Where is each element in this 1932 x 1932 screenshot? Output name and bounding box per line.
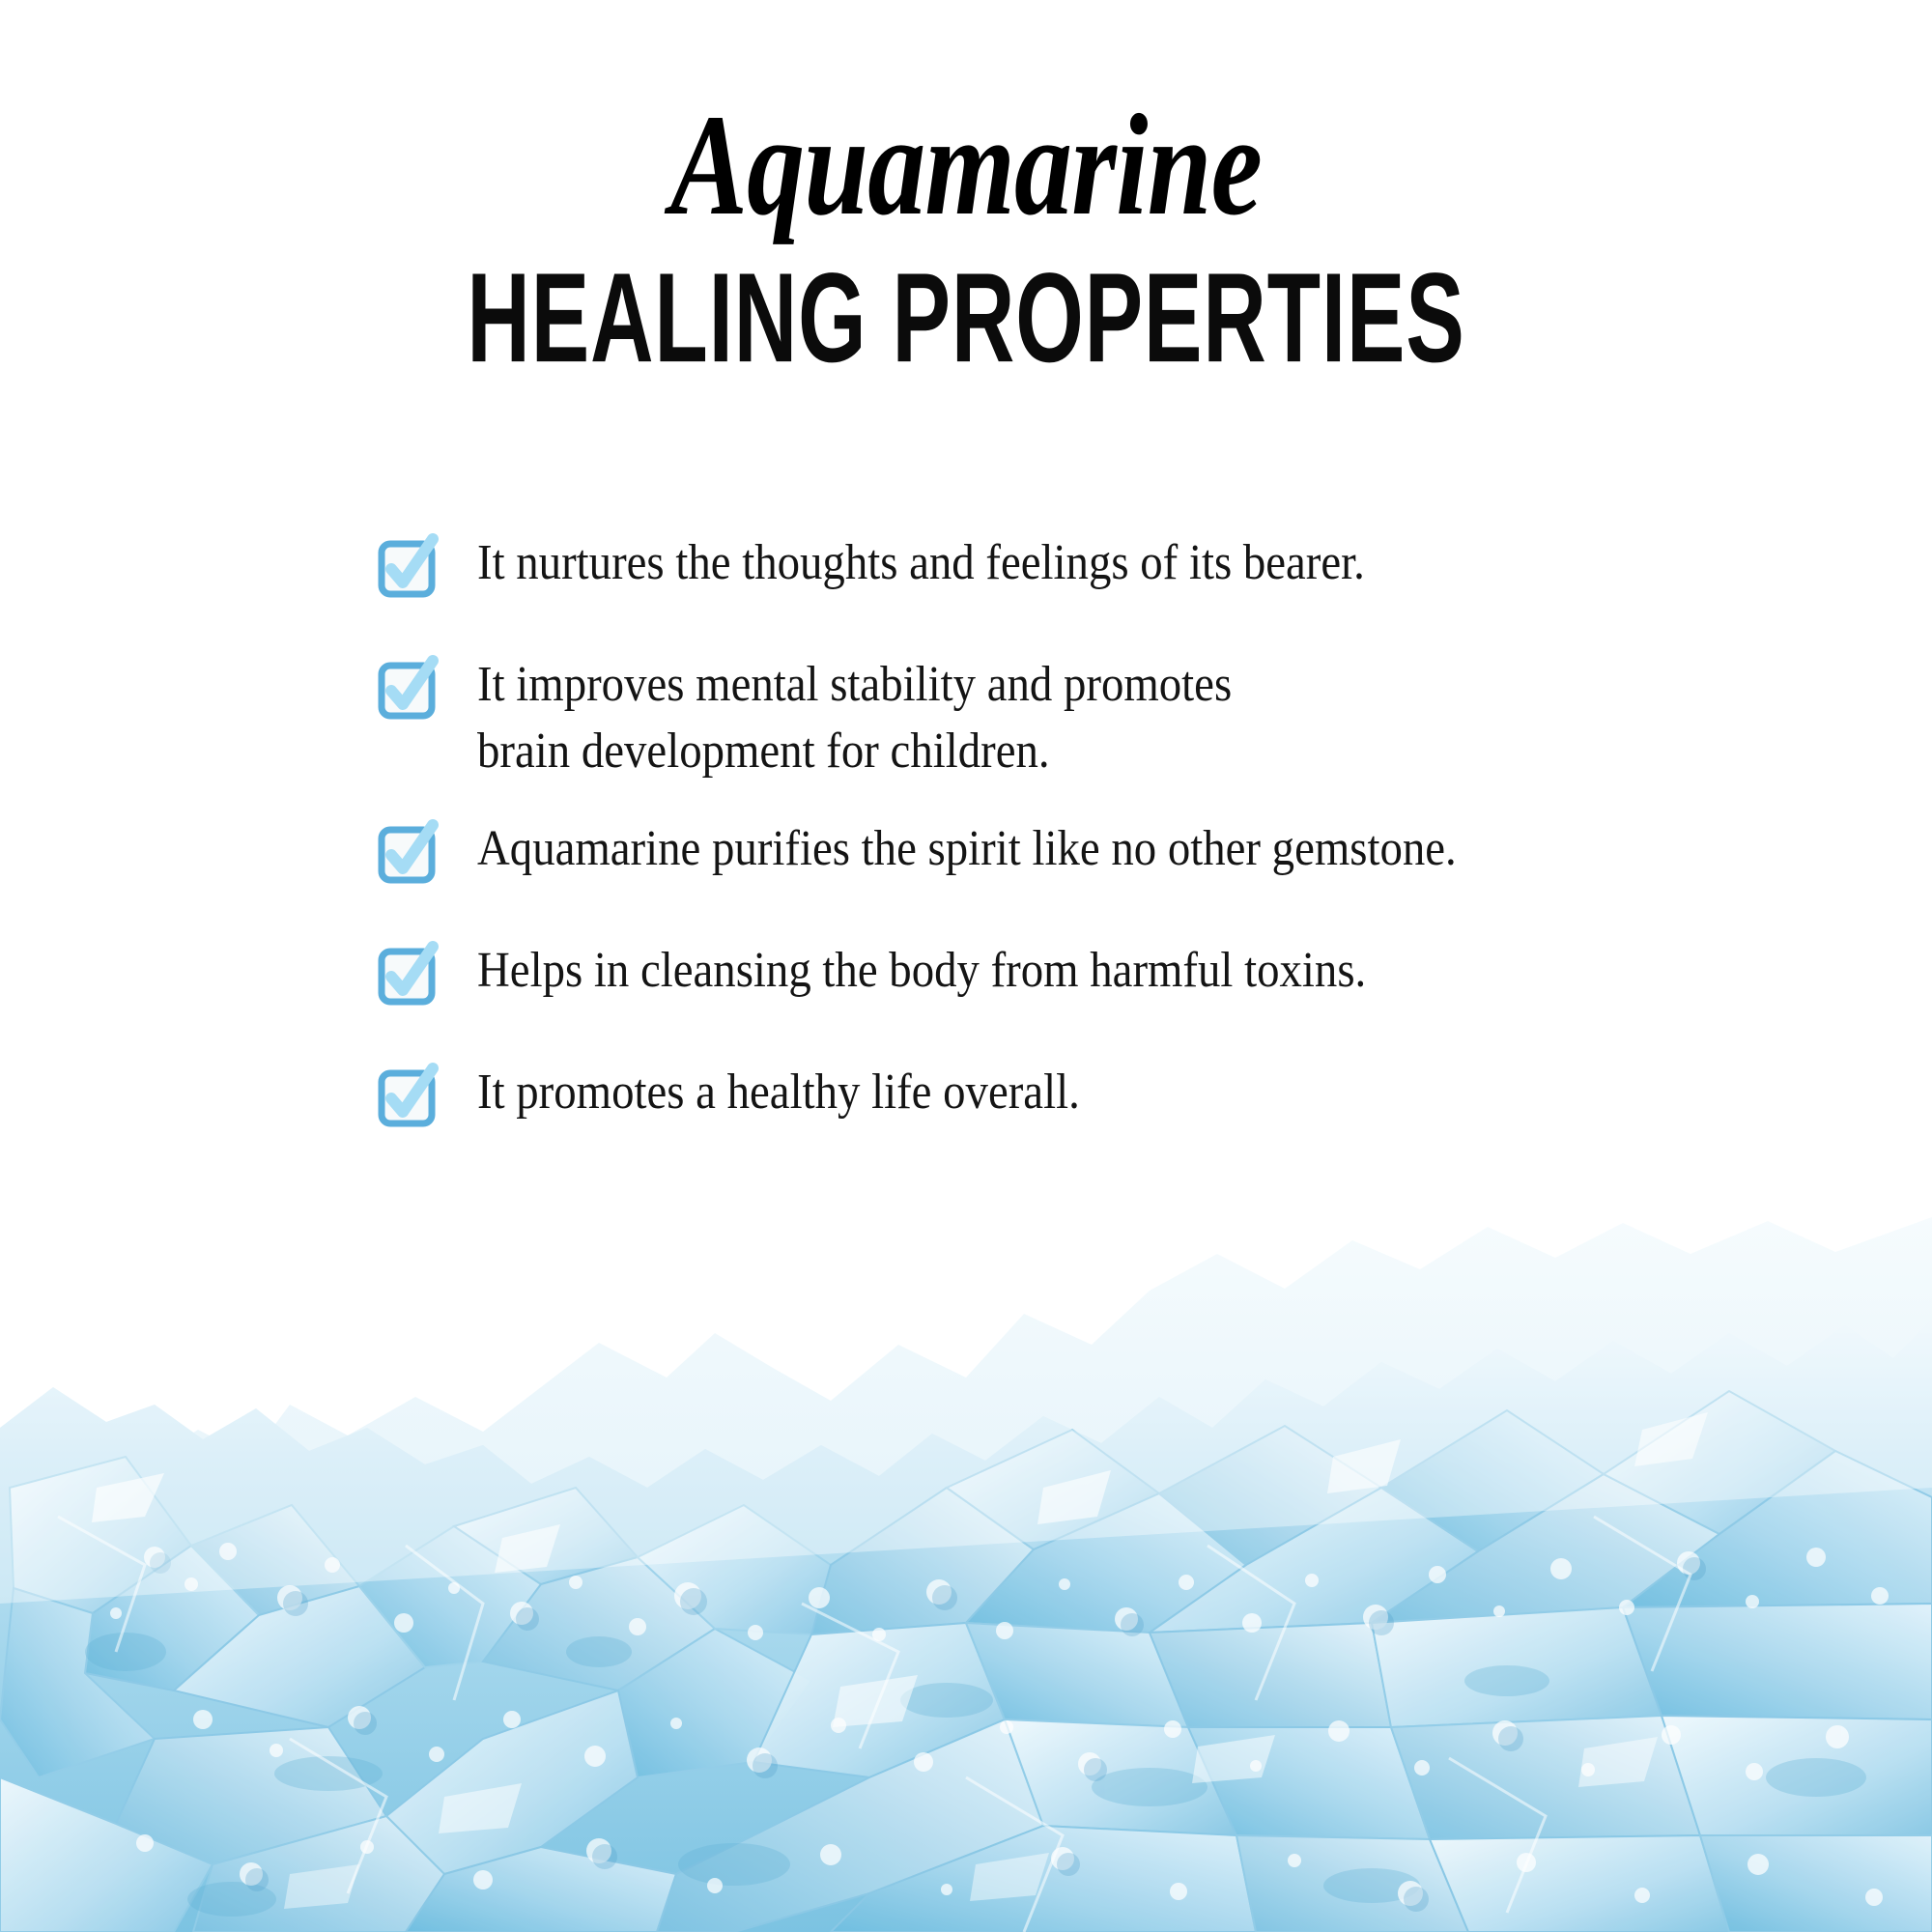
list-item: It improves mental stability and promote… bbox=[379, 651, 1828, 784]
poster-header: Aquamarine HEALING PROPERTIES bbox=[0, 0, 1932, 355]
list-item: Aquamarine purifies the spirit like no o… bbox=[379, 815, 1828, 885]
list-item-label: Aquamarine purifies the spirit like no o… bbox=[477, 815, 1692, 882]
list-item-label: It promotes a healthy life overall. bbox=[477, 1059, 1692, 1125]
ice-edge-lines bbox=[58, 1517, 1690, 1932]
ice-cube-cluster-left bbox=[0, 1457, 425, 1932]
checked-checkbox-icon bbox=[379, 537, 439, 599]
list-item-label: It improves mental stability and promote… bbox=[477, 651, 1692, 784]
page-title-script: Aquamarine bbox=[193, 0, 1739, 238]
ice-cube-foreground bbox=[657, 1604, 1932, 1932]
ice-cube-cluster-mid bbox=[193, 1488, 831, 1932]
ice-cubes-photo bbox=[0, 1198, 1932, 1932]
checked-checkbox-icon bbox=[379, 1066, 439, 1128]
infographic-poster: Aquamarine HEALING PROPERTIES It nurture… bbox=[0, 0, 1932, 1932]
checked-checkbox-icon bbox=[379, 823, 439, 885]
ice-main-mass bbox=[0, 1320, 1932, 1932]
healing-properties-checklist: It nurtures the thoughts and feelings of… bbox=[379, 529, 1828, 1180]
list-item: It nurtures the thoughts and feelings of… bbox=[379, 529, 1828, 599]
ice-highlights bbox=[92, 1412, 1708, 1909]
ice-back-layer bbox=[0, 1217, 1932, 1932]
list-item: Helps in cleansing the body from harmful… bbox=[379, 937, 1828, 1007]
list-item-label: Helps in cleansing the body from harmful… bbox=[477, 937, 1692, 1004]
list-item-label: It nurtures the thoughts and feelings of… bbox=[477, 529, 1692, 596]
ice-shadow-pockets bbox=[85, 1633, 1866, 1917]
list-item: It promotes a healthy life overall. bbox=[379, 1059, 1828, 1128]
ice-cube-cluster-right bbox=[811, 1391, 1932, 1634]
page-title-subheading: HEALING PROPERTIES bbox=[155, 238, 1777, 382]
checked-checkbox-icon bbox=[379, 945, 439, 1007]
ice-top-fade bbox=[0, 1320, 1932, 1604]
ice-bubbles bbox=[110, 1543, 1889, 1912]
checked-checkbox-icon bbox=[379, 659, 439, 721]
